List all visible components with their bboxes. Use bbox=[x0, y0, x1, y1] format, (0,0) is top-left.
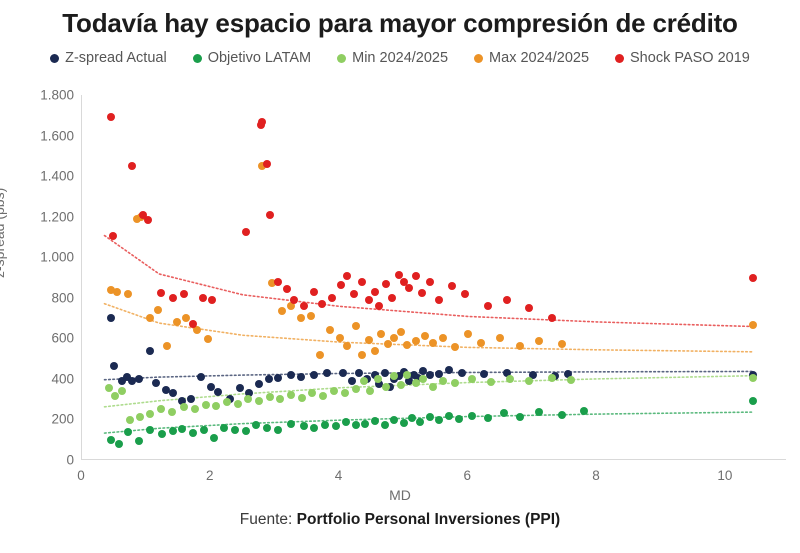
data-point[interactable] bbox=[384, 340, 392, 348]
legend-item-min-2024-2025[interactable]: Min 2024/2025 bbox=[337, 50, 448, 66]
data-point[interactable] bbox=[484, 302, 492, 310]
data-point[interactable] bbox=[375, 302, 383, 310]
x-tick-label: 8 bbox=[592, 468, 600, 483]
data-point[interactable] bbox=[146, 426, 154, 434]
data-point[interactable] bbox=[461, 290, 469, 298]
data-point[interactable] bbox=[242, 427, 250, 435]
data-point[interactable] bbox=[276, 395, 284, 403]
data-point[interactable] bbox=[480, 370, 488, 378]
data-point[interactable] bbox=[189, 320, 197, 328]
data-point[interactable] bbox=[297, 314, 305, 322]
data-point[interactable] bbox=[152, 379, 160, 387]
data-point[interactable] bbox=[187, 395, 195, 403]
data-point[interactable] bbox=[223, 398, 231, 406]
data-point[interactable] bbox=[290, 296, 298, 304]
data-points-layer bbox=[82, 95, 786, 459]
data-point[interactable] bbox=[435, 296, 443, 304]
data-point[interactable] bbox=[371, 417, 379, 425]
data-point[interactable] bbox=[214, 388, 222, 396]
data-point[interactable] bbox=[388, 294, 396, 302]
data-point[interactable] bbox=[390, 416, 398, 424]
legend-item-z-spread-actual[interactable]: Z-spread Actual bbox=[50, 50, 167, 66]
data-point[interactable] bbox=[236, 384, 244, 392]
data-point[interactable] bbox=[255, 397, 263, 405]
data-point[interactable] bbox=[558, 411, 566, 419]
data-point[interactable] bbox=[567, 376, 575, 384]
y-tick-label: 600 bbox=[8, 331, 74, 346]
data-point[interactable] bbox=[403, 341, 411, 349]
legend-label: Max 2024/2025 bbox=[489, 50, 589, 66]
data-point[interactable] bbox=[208, 296, 216, 304]
data-point[interactable] bbox=[157, 405, 165, 413]
y-tick-label: 0 bbox=[8, 453, 74, 468]
data-point[interactable] bbox=[316, 351, 324, 359]
data-point[interactable] bbox=[332, 422, 340, 430]
data-point[interactable] bbox=[516, 342, 524, 350]
data-point[interactable] bbox=[421, 332, 429, 340]
data-point[interactable] bbox=[210, 434, 218, 442]
data-point[interactable] bbox=[516, 413, 524, 421]
data-point[interactable] bbox=[355, 369, 363, 377]
data-point[interactable] bbox=[168, 408, 176, 416]
data-point[interactable] bbox=[439, 334, 447, 342]
data-point[interactable] bbox=[231, 426, 239, 434]
data-point[interactable] bbox=[382, 383, 390, 391]
data-point[interactable] bbox=[287, 420, 295, 428]
data-point[interactable] bbox=[749, 321, 757, 329]
data-point[interactable] bbox=[451, 343, 459, 351]
data-point[interactable] bbox=[426, 413, 434, 421]
data-point[interactable] bbox=[180, 403, 188, 411]
data-point[interactable] bbox=[381, 421, 389, 429]
data-point[interactable] bbox=[749, 374, 757, 382]
data-point[interactable] bbox=[298, 394, 306, 402]
data-point[interactable] bbox=[191, 405, 199, 413]
data-point[interactable] bbox=[318, 300, 326, 308]
data-point[interactable] bbox=[128, 162, 136, 170]
data-point[interactable] bbox=[484, 414, 492, 422]
data-point[interactable] bbox=[416, 418, 424, 426]
data-point[interactable] bbox=[448, 282, 456, 290]
data-point[interactable] bbox=[307, 312, 315, 320]
y-tick-label: 200 bbox=[8, 412, 74, 427]
data-point[interactable] bbox=[397, 328, 405, 336]
data-point[interactable] bbox=[287, 391, 295, 399]
data-point[interactable] bbox=[358, 351, 366, 359]
data-point[interactable] bbox=[365, 296, 373, 304]
data-point[interactable] bbox=[169, 389, 177, 397]
data-point[interactable] bbox=[352, 385, 360, 393]
data-point[interactable] bbox=[365, 336, 373, 344]
data-point[interactable] bbox=[749, 274, 757, 282]
data-point[interactable] bbox=[109, 232, 117, 240]
data-point[interactable] bbox=[445, 366, 453, 374]
data-point[interactable] bbox=[274, 426, 282, 434]
data-point[interactable] bbox=[266, 393, 274, 401]
data-point[interactable] bbox=[350, 290, 358, 298]
data-point[interactable] bbox=[408, 414, 416, 422]
data-point[interactable] bbox=[455, 415, 463, 423]
data-point[interactable] bbox=[412, 272, 420, 280]
data-point[interactable] bbox=[255, 380, 263, 388]
data-point[interactable] bbox=[337, 281, 345, 289]
data-point[interactable] bbox=[300, 302, 308, 310]
data-point[interactable] bbox=[468, 412, 476, 420]
data-point[interactable] bbox=[487, 378, 495, 386]
data-point[interactable] bbox=[535, 408, 543, 416]
data-point[interactable] bbox=[548, 314, 556, 322]
data-point[interactable] bbox=[180, 290, 188, 298]
data-point[interactable] bbox=[124, 290, 132, 298]
legend-item-objetivo-latam[interactable]: Objetivo LATAM bbox=[193, 50, 311, 66]
data-point[interactable] bbox=[244, 395, 252, 403]
chart-container: Todavía hay espacio para mayor compresió… bbox=[0, 0, 800, 553]
data-point[interactable] bbox=[274, 374, 282, 382]
y-tick-label: 1.600 bbox=[8, 128, 74, 143]
legend-marker-icon bbox=[337, 54, 346, 63]
data-point[interactable] bbox=[343, 272, 351, 280]
data-point[interactable] bbox=[419, 375, 427, 383]
data-point[interactable] bbox=[400, 419, 408, 427]
data-point[interactable] bbox=[506, 375, 514, 383]
data-point[interactable] bbox=[169, 294, 177, 302]
data-point[interactable] bbox=[110, 362, 118, 370]
data-point[interactable] bbox=[426, 278, 434, 286]
data-point[interactable] bbox=[283, 285, 291, 293]
data-point[interactable] bbox=[126, 416, 134, 424]
data-point[interactable] bbox=[445, 412, 453, 420]
x-tick-label: 2 bbox=[206, 468, 214, 483]
legend-label: Z-spread Actual bbox=[65, 50, 167, 66]
data-point[interactable] bbox=[204, 335, 212, 343]
data-point[interactable] bbox=[274, 278, 282, 286]
x-axis-label: MD bbox=[0, 487, 800, 503]
y-tick-label: 800 bbox=[8, 290, 74, 305]
data-point[interactable] bbox=[548, 374, 556, 382]
chart-title: Todavía hay espacio para mayor compresió… bbox=[0, 8, 800, 39]
data-point[interactable] bbox=[265, 375, 273, 383]
data-point[interactable] bbox=[371, 288, 379, 296]
data-point[interactable] bbox=[323, 369, 331, 377]
legend-label: Shock PASO 2019 bbox=[630, 50, 750, 66]
data-point[interactable] bbox=[477, 339, 485, 347]
source-prefix: Fuente: bbox=[240, 511, 297, 528]
data-point[interactable] bbox=[451, 379, 459, 387]
data-point[interactable] bbox=[405, 284, 413, 292]
y-tick-label: 400 bbox=[8, 371, 74, 386]
data-point[interactable] bbox=[136, 413, 144, 421]
data-point[interactable] bbox=[525, 377, 533, 385]
data-point[interactable] bbox=[300, 422, 308, 430]
data-point[interactable] bbox=[358, 278, 366, 286]
legend-label: Objetivo LATAM bbox=[208, 50, 311, 66]
data-point[interactable] bbox=[199, 294, 207, 302]
data-point[interactable] bbox=[135, 375, 143, 383]
data-point[interactable] bbox=[144, 216, 152, 224]
legend-item-shock-paso-2019[interactable]: Shock PASO 2019 bbox=[615, 50, 750, 66]
data-point[interactable] bbox=[341, 389, 349, 397]
data-point[interactable] bbox=[189, 429, 197, 437]
data-point[interactable] bbox=[496, 334, 504, 342]
data-point[interactable] bbox=[390, 334, 398, 342]
data-point[interactable] bbox=[580, 407, 588, 415]
data-point[interactable] bbox=[220, 424, 228, 432]
data-point[interactable] bbox=[173, 318, 181, 326]
data-point[interactable] bbox=[200, 426, 208, 434]
source-name: Portfolio Personal Inversiones (PPI) bbox=[297, 511, 561, 528]
data-point[interactable] bbox=[429, 383, 437, 391]
data-point[interactable] bbox=[749, 397, 757, 405]
data-point[interactable] bbox=[234, 400, 242, 408]
data-point[interactable] bbox=[371, 347, 379, 355]
data-point[interactable] bbox=[342, 418, 350, 426]
data-point[interactable] bbox=[458, 369, 466, 377]
data-point[interactable] bbox=[464, 330, 472, 338]
data-point[interactable] bbox=[146, 347, 154, 355]
data-point[interactable] bbox=[297, 373, 305, 381]
data-point[interactable] bbox=[403, 371, 411, 379]
data-point[interactable] bbox=[525, 304, 533, 312]
data-point[interactable] bbox=[263, 424, 271, 432]
y-tick-label: 1.400 bbox=[8, 169, 74, 184]
data-point[interactable] bbox=[207, 383, 215, 391]
chart-legend: Z-spread ActualObjetivo LATAMMin 2024/20… bbox=[0, 50, 800, 66]
data-point[interactable] bbox=[321, 421, 329, 429]
data-point[interactable] bbox=[326, 326, 334, 334]
data-point[interactable] bbox=[242, 228, 250, 236]
data-point[interactable] bbox=[361, 420, 369, 428]
data-point[interactable] bbox=[319, 392, 327, 400]
data-point[interactable] bbox=[308, 389, 316, 397]
data-point[interactable] bbox=[328, 294, 336, 302]
data-point[interactable] bbox=[382, 280, 390, 288]
data-point[interactable] bbox=[558, 340, 566, 348]
data-point[interactable] bbox=[202, 401, 210, 409]
data-point[interactable] bbox=[310, 424, 318, 432]
data-point[interactable] bbox=[330, 387, 338, 395]
data-point[interactable] bbox=[178, 425, 186, 433]
data-point[interactable] bbox=[107, 314, 115, 322]
legend-marker-icon bbox=[615, 54, 624, 63]
y-tick-label: 1.200 bbox=[8, 209, 74, 224]
source-caption: Fuente: Portfolio Personal Inversiones (… bbox=[0, 511, 800, 529]
data-point[interactable] bbox=[503, 296, 511, 304]
data-point[interactable] bbox=[377, 330, 385, 338]
data-point[interactable] bbox=[360, 377, 368, 385]
data-point[interactable] bbox=[115, 440, 123, 448]
legend-item-max-2024-2025[interactable]: Max 2024/2025 bbox=[474, 50, 589, 66]
data-point[interactable] bbox=[252, 421, 260, 429]
data-point[interactable] bbox=[263, 160, 271, 168]
data-point[interactable] bbox=[135, 437, 143, 445]
data-point[interactable] bbox=[435, 416, 443, 424]
data-point[interactable] bbox=[118, 387, 126, 395]
data-point[interactable] bbox=[169, 427, 177, 435]
data-point[interactable] bbox=[374, 375, 382, 383]
data-point[interactable] bbox=[418, 289, 426, 297]
data-point[interactable] bbox=[158, 430, 166, 438]
data-point[interactable] bbox=[310, 288, 318, 296]
data-point[interactable] bbox=[113, 288, 121, 296]
x-tick-label: 0 bbox=[77, 468, 85, 483]
x-tick-label: 4 bbox=[335, 468, 343, 483]
data-point[interactable] bbox=[390, 372, 398, 380]
data-point[interactable] bbox=[339, 369, 347, 377]
data-point[interactable] bbox=[107, 436, 115, 444]
legend-marker-icon bbox=[193, 54, 202, 63]
data-point[interactable] bbox=[266, 211, 274, 219]
data-point[interactable] bbox=[412, 337, 420, 345]
data-point[interactable] bbox=[124, 428, 132, 436]
data-point[interactable] bbox=[212, 402, 220, 410]
data-point[interactable] bbox=[352, 421, 360, 429]
data-point[interactable] bbox=[343, 342, 351, 350]
data-point[interactable] bbox=[310, 371, 318, 379]
legend-label: Min 2024/2025 bbox=[352, 50, 448, 66]
data-point[interactable] bbox=[429, 339, 437, 347]
data-point[interactable] bbox=[146, 314, 154, 322]
x-tick-label: 10 bbox=[717, 468, 732, 483]
data-point[interactable] bbox=[146, 410, 154, 418]
data-point[interactable] bbox=[105, 384, 113, 392]
y-axis-label: z-spread (pbs) bbox=[0, 188, 7, 278]
legend-marker-icon bbox=[50, 54, 59, 63]
data-point[interactable] bbox=[287, 371, 295, 379]
data-point[interactable] bbox=[157, 289, 165, 297]
data-point[interactable] bbox=[397, 381, 405, 389]
data-point[interactable] bbox=[366, 387, 374, 395]
plot-area bbox=[81, 95, 786, 460]
data-point[interactable] bbox=[163, 342, 171, 350]
x-tick-label: 6 bbox=[464, 468, 472, 483]
data-point[interactable] bbox=[336, 334, 344, 342]
data-point[interactable] bbox=[154, 306, 162, 314]
data-point[interactable] bbox=[197, 373, 205, 381]
data-point[interactable] bbox=[500, 409, 508, 417]
data-point[interactable] bbox=[439, 377, 447, 385]
data-point[interactable] bbox=[468, 375, 476, 383]
data-point[interactable] bbox=[107, 113, 115, 121]
data-point[interactable] bbox=[258, 118, 266, 126]
y-tick-label: 1.000 bbox=[8, 250, 74, 265]
y-tick-label: 1.800 bbox=[8, 88, 74, 103]
data-point[interactable] bbox=[535, 337, 543, 345]
data-point[interactable] bbox=[381, 369, 389, 377]
data-point[interactable] bbox=[348, 377, 356, 385]
legend-marker-icon bbox=[474, 54, 483, 63]
data-point[interactable] bbox=[352, 322, 360, 330]
data-point[interactable] bbox=[278, 307, 286, 315]
